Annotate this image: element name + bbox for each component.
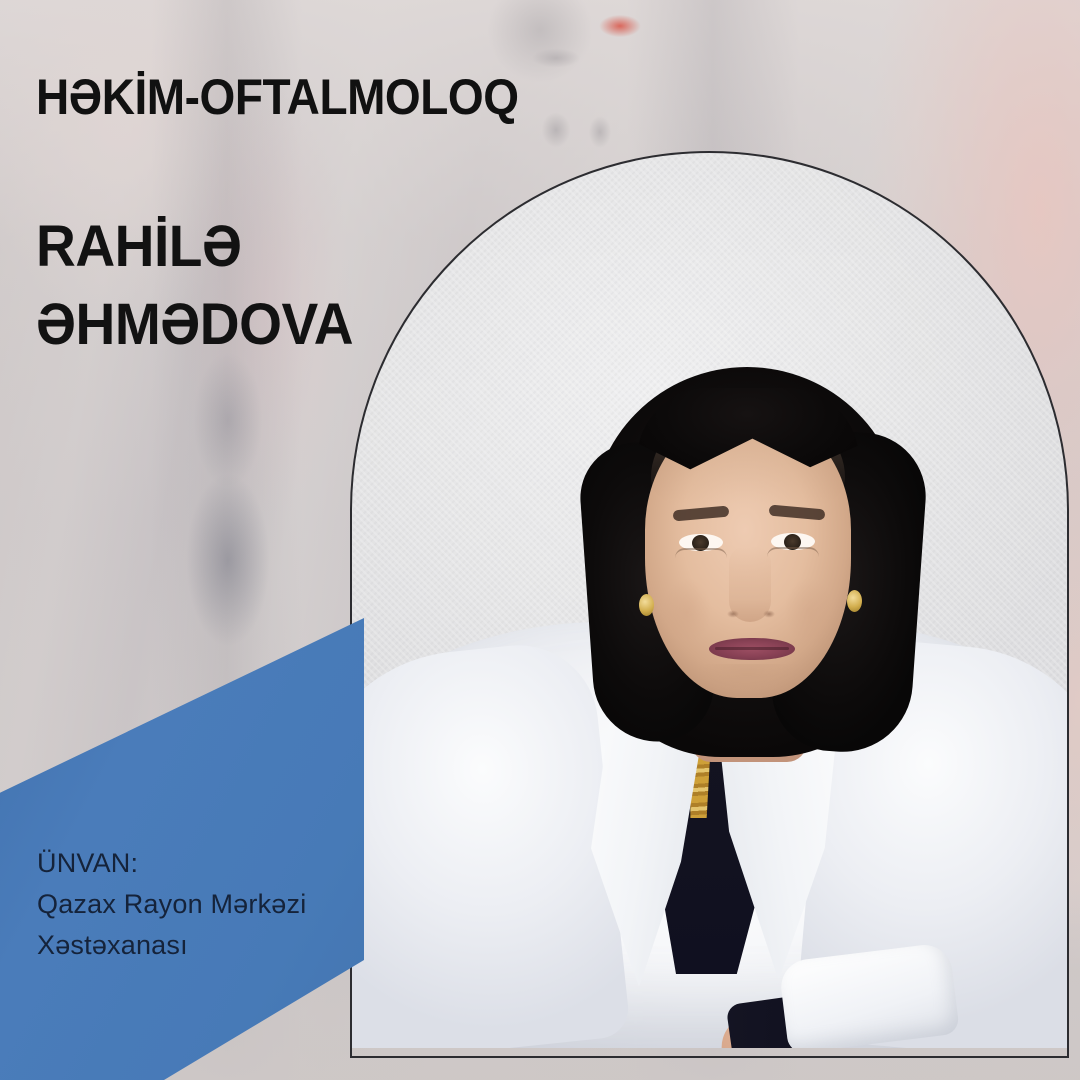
chin-shading bbox=[681, 664, 815, 718]
address-line-2: Xəstəxanası bbox=[37, 925, 306, 966]
address-block: ÜNVAN: Qazax Rayon Mərkəzi Xəstəxanası bbox=[37, 843, 306, 966]
nostrils bbox=[725, 608, 777, 620]
address-line-1: Qazax Rayon Mərkəzi bbox=[37, 884, 306, 925]
doctor-figure bbox=[351, 152, 1068, 1048]
address-label: ÜNVAN: bbox=[37, 843, 306, 884]
portrait-arch-frame bbox=[351, 152, 1068, 1048]
cheek-right bbox=[779, 572, 839, 652]
role-title: HƏKİM-OFTALMOLOQ bbox=[36, 72, 519, 122]
cheek-left bbox=[657, 572, 717, 652]
doctor-name: RAHİLƏ ƏHMƏDOVA bbox=[36, 208, 353, 365]
earring-left bbox=[639, 594, 654, 616]
under-eye-left bbox=[675, 548, 727, 558]
doctor-photo bbox=[351, 152, 1068, 1048]
doctor-name-line-2: ƏHMƏDOVA bbox=[36, 286, 353, 364]
doctor-profile-card: HƏKİM-OFTALMOLOQ RAHİLƏ ƏHMƏDOVA ÜNVAN: … bbox=[0, 0, 1080, 1080]
under-eye-right bbox=[767, 547, 819, 557]
doctor-name-line-1: RAHİLƏ bbox=[36, 208, 353, 286]
earring-right bbox=[847, 590, 862, 612]
mouth bbox=[709, 638, 795, 660]
